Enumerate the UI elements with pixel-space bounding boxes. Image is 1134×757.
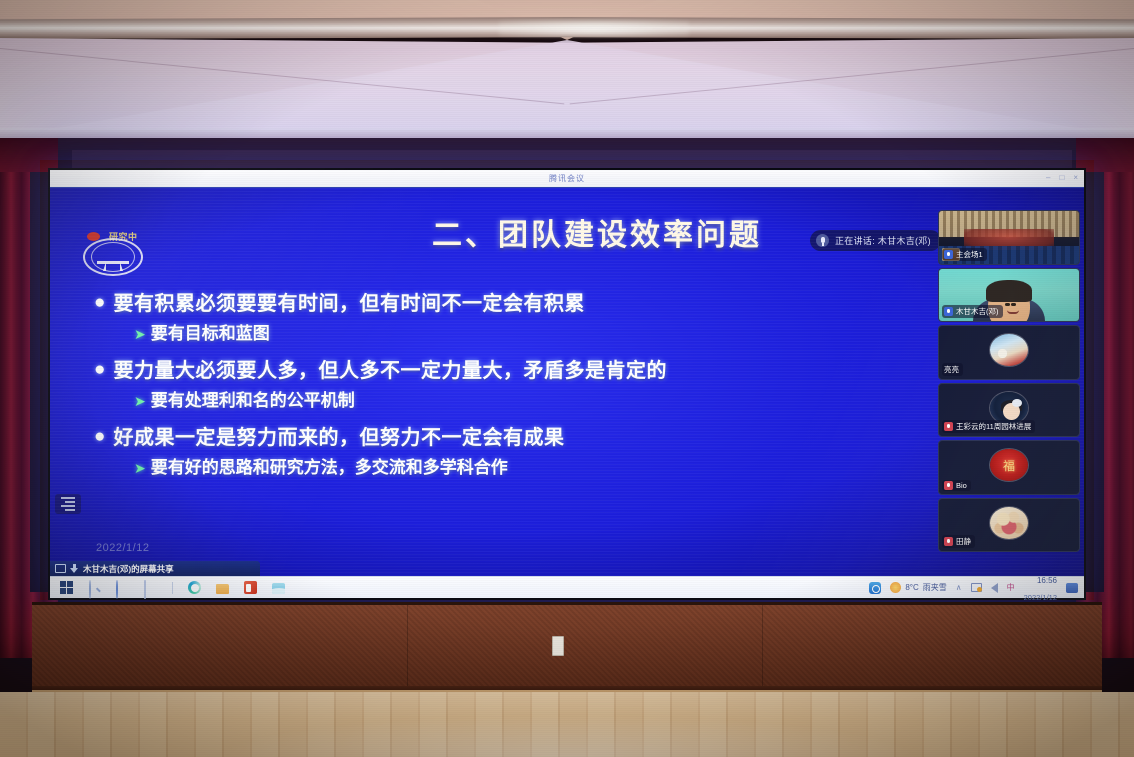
participant-name: 王彩云的11周园林进展 [956,421,1031,432]
sub-bullet-item: ➤ 要有好的思路和研究方法，多交流和多学科合作 [134,455,884,481]
participant-name: 田静 [956,536,971,547]
meeting-window-titlebar: 腾讯会议 – □ × [50,170,1084,188]
task-view-icon[interactable] [144,581,157,594]
avatar-cartoon-image [990,392,1028,424]
floor-reflection [0,692,1134,757]
weather-icon [890,582,901,593]
window-controls[interactable]: – □ × [1046,173,1078,182]
participant-name: 木甘木吉(邓) [956,306,999,317]
participant-label: 田静 [942,535,975,548]
bullet-item: ● 好成果一定是努力而来的，但努力不一定会有成果 [94,422,884,452]
participant-tile[interactable]: 王彩云的11周园林进展 [938,383,1080,438]
bullet-group: ● 要有积累必须要要有时间，但有时间不一定会有积累 ➤ 要有目标和蓝图 [94,288,884,347]
ceiling-light-glow [499,20,689,37]
curtain-valance-right [1076,138,1134,172]
windows-taskbar[interactable]: 8°C 雨夹雪 ∧ 中 16:56 2022/1/12 [50,576,1084,598]
weather-widget[interactable]: 8°C 雨夹雪 [890,582,946,593]
weather-temp: 8°C [905,583,918,592]
ime-indicator[interactable]: 中 [1007,582,1015,593]
network-icon[interactable] [971,583,982,592]
person-hair [986,280,1032,302]
cartoon-bubble [1012,399,1022,407]
sub-bullet-item: ➤ 要有处理利和名的公平机制 [134,388,884,414]
bullet-group: ● 要力量大必须要人多，但人多不一定力量大，矛盾多是肯定的 ➤ 要有处理利和名的… [94,355,884,414]
download-arrow-icon [70,564,79,573]
person-mouth [1007,310,1019,314]
avatar-red-image [990,449,1028,481]
avatar [989,333,1029,367]
mic-muted-icon [944,422,953,431]
mic-status-icon [944,250,953,259]
bullet-group: ● 好成果一定是努力而来的，但努力不一定会有成果 ➤ 要有好的思路和研究方法，多… [94,422,884,481]
slide-list-control[interactable] [55,494,81,514]
sub-bullet-text: 要有好的思路和研究方法，多交流和多学科合作 [151,455,508,481]
person-eye-right [1011,303,1016,306]
monitor-icon [55,564,66,573]
minimize-button[interactable]: – [1046,173,1050,182]
screen-share-indicator: 木甘木吉(邓)的屏幕共享 [50,561,260,576]
shared-slide: 研究中 二、团队建设效率问题 ● 要有积累必须要要有时间，但有时间不一定会有积累… [50,188,1084,576]
participant-label: Bio [942,480,971,491]
window-title: 腾讯会议 [549,173,585,184]
participant-label: 木甘木吉(邓) [942,305,1003,318]
participant-name: 主会场1 [956,249,983,260]
tencent-meeting-icon[interactable] [869,582,881,594]
bullet-text: 好成果一定是努力而来的，但努力不一定会有成果 [113,422,564,452]
participant-tile-strip[interactable]: 主会场1 木甘木吉(邓) [936,208,1082,554]
wall-outlet [552,636,564,656]
sub-bullet-item: ➤ 要有目标和蓝图 [134,321,884,347]
avatar-floral-image [990,507,1028,539]
logo-crossbar [97,261,129,264]
curtain-valance-left [0,138,58,172]
slide-body: ● 要有积累必须要要有时间，但有时间不一定会有积累 ➤ 要有目标和蓝图 ● 要力… [94,288,884,489]
system-tray[interactable]: 8°C 雨夹雪 ∧ 中 16:56 2022/1/12 [869,571,1078,605]
photos-icon[interactable] [272,583,285,594]
sub-bullet-arrow-icon: ➤ [134,388,146,414]
weather-desc: 雨夹雪 [923,582,947,593]
bullet-item: ● 要有积累必须要要有时间，但有时间不一定会有积累 [94,288,884,318]
bullet-text: 要力量大必须要人多，但人多不一定力量大，矛盾多是肯定的 [113,355,667,385]
cortana-icon[interactable] [116,581,129,594]
screen-share-text: 木甘木吉(邓)的屏幕共享 [83,563,174,575]
active-speaker-banner: 正在讲话: 木甘木吉(邓) [810,230,941,251]
powerpoint-icon[interactable] [244,581,257,594]
participant-tile[interactable]: 木甘木吉(邓) [938,268,1080,323]
conference-hall-scene: 腾讯会议 – □ × 研究中 二、团队建设效率问题 [0,0,1134,757]
participant-name: Bio [956,481,967,490]
maximize-button[interactable]: □ [1059,173,1064,182]
action-center-icon[interactable] [1066,583,1078,593]
mic-muted-icon [944,537,953,546]
clock-time: 16:56 [1037,576,1057,585]
avatar [989,448,1029,482]
sub-bullet-arrow-icon: ➤ [134,321,146,347]
sub-bullet-text: 要有目标和蓝图 [151,321,270,347]
acoustic-wall [32,602,1102,692]
file-explorer-icon[interactable] [216,584,229,594]
participant-tile[interactable]: 亮亮 [938,325,1080,380]
bullet-marker-icon: ● [94,422,105,452]
led-screen: 腾讯会议 – □ × 研究中 二、团队建设效率问题 [48,168,1086,600]
participant-tile[interactable]: 主会场1 [938,210,1080,265]
bullet-item: ● 要力量大必须要人多，但人多不一定力量大，矛盾多是肯定的 [94,355,884,385]
participant-label: 亮亮 [942,363,963,376]
participant-tile[interactable]: Bio [938,440,1080,495]
slide-date: 2022/1/12 [96,542,149,554]
taskbar-icon-group[interactable] [60,581,285,594]
participant-name: 亮亮 [944,364,959,375]
mic-muted-icon [944,481,953,490]
chevron-up-icon[interactable]: ∧ [956,583,962,592]
search-icon[interactable] [88,581,101,594]
bullet-marker-icon: ● [94,288,105,318]
bullet-text: 要有积累必须要要有时间，但有时间不一定会有积累 [113,288,585,318]
active-speaker-text: 正在讲话: 木甘木吉(邓) [835,234,931,247]
sub-bullet-arrow-icon: ➤ [134,455,146,481]
clock-date: 2022/1/12 [1024,593,1057,602]
participant-tile[interactable]: 田静 [938,498,1080,553]
participant-label: 主会场1 [942,248,987,261]
clock[interactable]: 16:56 2022/1/12 [1024,571,1057,605]
person-eye-left [1005,303,1010,306]
sub-bullet-text: 要有处理利和名的公平机制 [151,388,355,414]
volume-icon[interactable] [991,583,998,593]
edge-icon[interactable] [188,581,201,594]
avatar [989,506,1029,540]
start-icon[interactable] [60,581,73,594]
close-button[interactable]: × [1073,173,1078,182]
participant-label: 王彩云的11周园林进展 [942,420,1035,433]
microphone-icon [816,234,829,247]
ceiling-edge-trim [0,128,1134,138]
list-icon [61,495,75,513]
ceiling [0,0,1134,152]
bullet-marker-icon: ● [94,355,105,385]
mic-status-icon [944,307,953,316]
taskbar-divider [172,582,173,594]
avatar-photo-image [990,334,1028,366]
